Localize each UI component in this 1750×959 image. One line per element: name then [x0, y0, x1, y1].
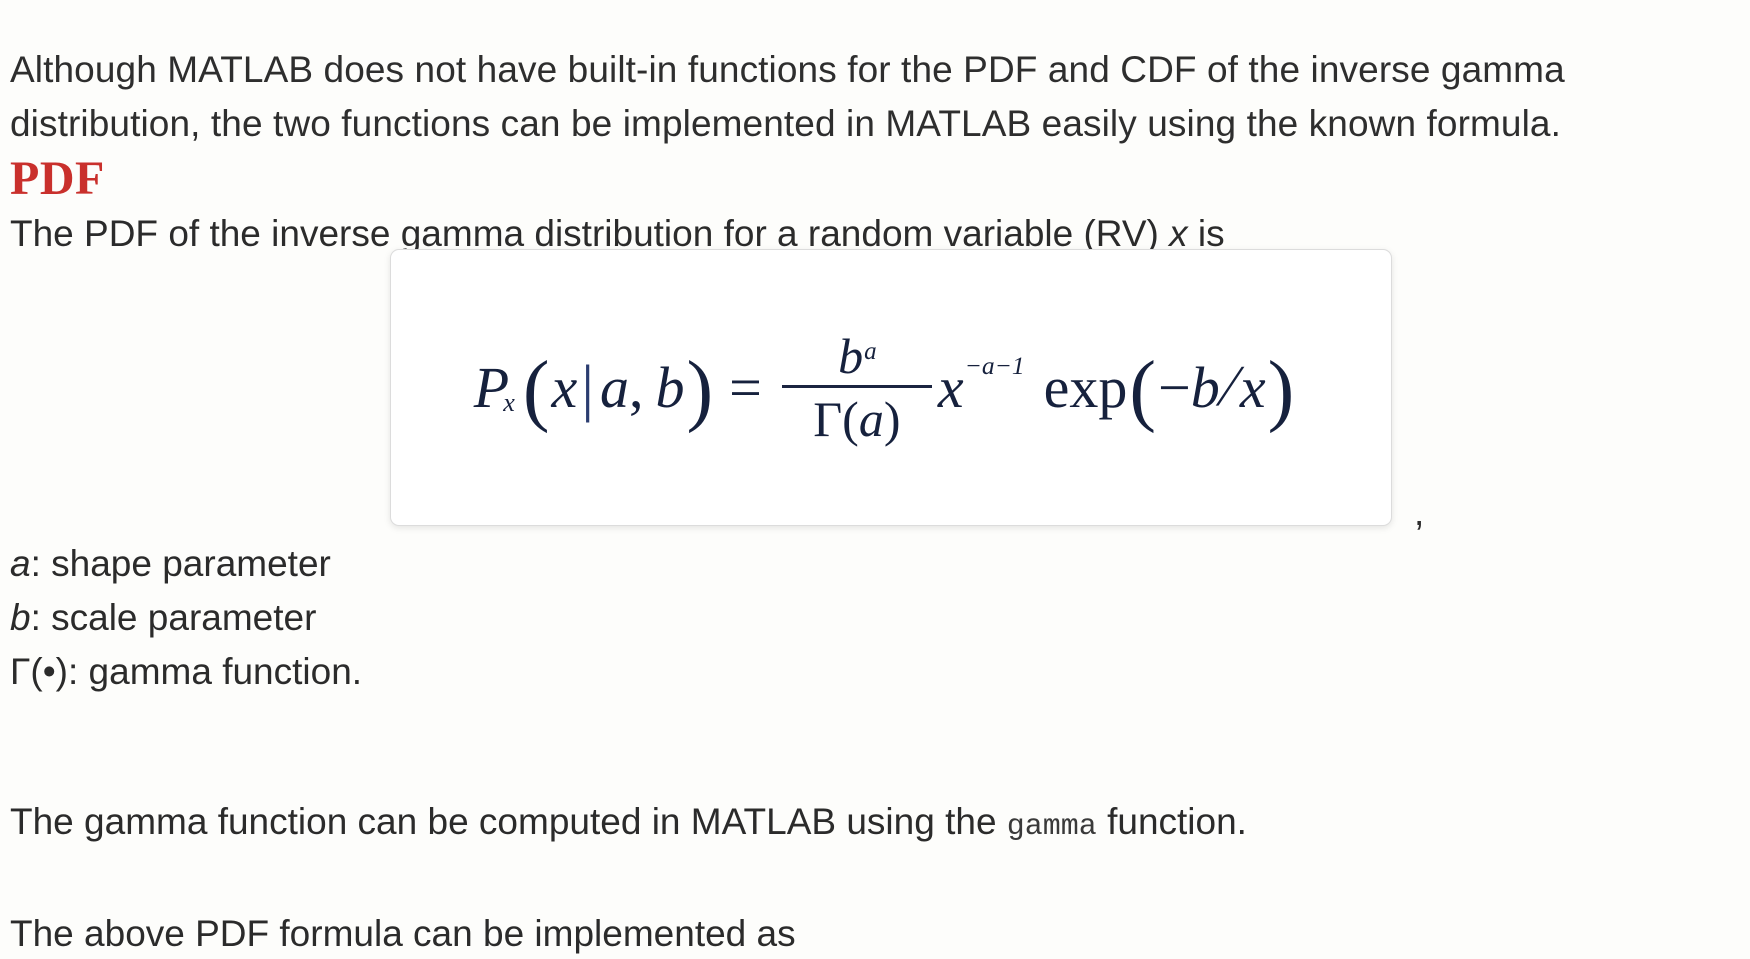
lead-text-after: is — [1188, 213, 1225, 254]
parameter-item-a: a: shape parameter — [10, 537, 362, 591]
formula-lhs-subscript: x — [503, 390, 515, 416]
document-page: Although MATLAB does not have built-in f… — [0, 0, 1750, 938]
intro-paragraph: Although MATLAB does not have built-in f… — [10, 43, 1710, 151]
parameter-symbol-b: b — [10, 597, 31, 638]
parameter-item-b: b: scale parameter — [10, 591, 362, 645]
exp-minus-sign: − — [1158, 359, 1191, 417]
parameter-symbol-a: a — [10, 543, 31, 584]
formula-comma: , — [629, 359, 644, 417]
factor-exponent: −a−1 — [965, 353, 1025, 379]
parameter-description-b: : scale parameter — [31, 597, 317, 638]
formula-image-card: Px ( x | a,b ) = ba Γ(a) x−a−1 exp (−b/x… — [390, 249, 1392, 526]
exp-label: exp — [1044, 359, 1128, 417]
parameter-symbol-gamma: Γ(•) — [10, 651, 68, 692]
lead-italic-variable: x — [1169, 213, 1188, 254]
parameter-description-a: : shape parameter — [31, 543, 331, 584]
gamma-function-note: The gamma function can be computed in MA… — [10, 797, 1247, 852]
parameter-description-gamma: : gamma function. — [68, 651, 362, 692]
formula-param-b: b — [656, 359, 685, 417]
formula-arg-variable: x — [551, 359, 577, 417]
closing-paragraph: The above PDF formula can be implemented… — [10, 909, 796, 959]
fraction-denominator: Γ(a) — [803, 388, 910, 444]
fraction-numerator: ba — [828, 331, 886, 385]
formula-fraction: ba Γ(a) — [782, 331, 932, 444]
formula-equals: = — [729, 359, 762, 417]
denominator-gamma-symbol: Γ — [813, 391, 842, 447]
numerator-base: b — [838, 328, 863, 384]
section-heading-pdf: PDF — [10, 153, 105, 205]
lead-text-before: The PDF of the inverse gamma distributio… — [10, 213, 1169, 254]
denominator-close-paren: ) — [884, 391, 901, 447]
parameter-item-gamma: Γ(•): gamma function. — [10, 645, 362, 699]
denominator-open-paren: ( — [842, 391, 859, 447]
gamma-note-text-before: The gamma function can be computed in MA… — [10, 801, 1007, 842]
pdf-formula: Px ( x | a,b ) = ba Γ(a) x−a−1 exp (−b/x… — [474, 331, 1296, 444]
gamma-note-text-after: function. — [1097, 801, 1247, 842]
formula-conditional-bar: | — [581, 356, 594, 420]
formula-param-a: a — [600, 359, 629, 417]
factor-variable: x — [938, 359, 964, 417]
denominator-argument: a — [859, 391, 884, 447]
numerator-exponent: a — [864, 338, 877, 365]
parameter-list: a: shape parameter b: scale parameter Γ(… — [10, 537, 362, 699]
formula-trailing-comma: , — [1414, 492, 1424, 534]
inline-code-gamma: gamma — [1007, 810, 1097, 844]
